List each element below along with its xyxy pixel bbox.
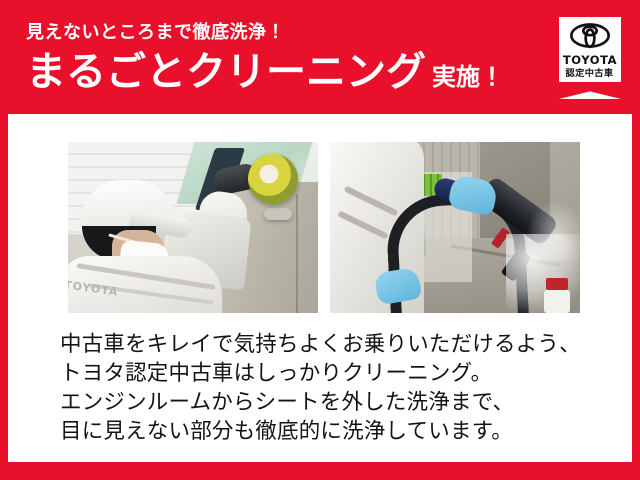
toyota-wordmark: TOYOTA [563,55,617,67]
polisher-pad-icon [248,154,298,204]
kicker-text: 見えないところまで徹底洗浄！ [26,24,526,42]
certified-used-car-label: 認定中古車 [566,70,614,79]
banner-header: 見えないところまで徹底洗浄！ まるごとクリーニング 実施！ TOYOTA 認定中… [0,0,640,114]
body-copy: 中古車をキレイで気持ちよくお乗りいただけるよう、 トヨタ認定中古車はしっかりクリ… [60,330,600,446]
content-card: TOYOTA [8,114,632,462]
car-door-handle [264,208,292,220]
body-copy-line-4: 目に見えない部分も徹底的に洗浄しています。 [60,417,600,446]
body-copy-line-1: 中古車をキレイで気持ちよくお乗りいただけるよう、 [60,330,600,359]
car-panel-seam [296,194,298,313]
exterior-polishing-photo: TOYOTA [68,142,318,313]
headline-block: 見えないところまで徹底洗浄！ まるごとクリーニング 実施！ [26,24,526,92]
interior-steam-cleaning-photo [330,142,580,313]
body-copy-line-2: トヨタ認定中古車はしっかりクリーニング。 [60,359,600,388]
headline-main-text: まるごとクリーニング [26,52,426,92]
cleaning-promo-banner: 見えないところまで徹底洗浄！ まるごとクリーニング 実施！ TOYOTA 認定中… [0,0,640,480]
body-copy-line-3: エンジンルームからシートを外した洗浄まで、 [60,388,600,417]
white-cuff [544,290,570,313]
red-strap [546,278,568,290]
toyota-certified-used-car-logo: TOYOTA 認定中古車 [559,17,621,99]
toyota-emblem-icon [570,22,610,53]
photo-row: TOYOTA [68,142,580,313]
logo-red-chevron [559,82,621,99]
headline-sub-text: 実施！ [432,65,504,89]
headline-row: まるごとクリーニング 実施！ [26,52,526,92]
